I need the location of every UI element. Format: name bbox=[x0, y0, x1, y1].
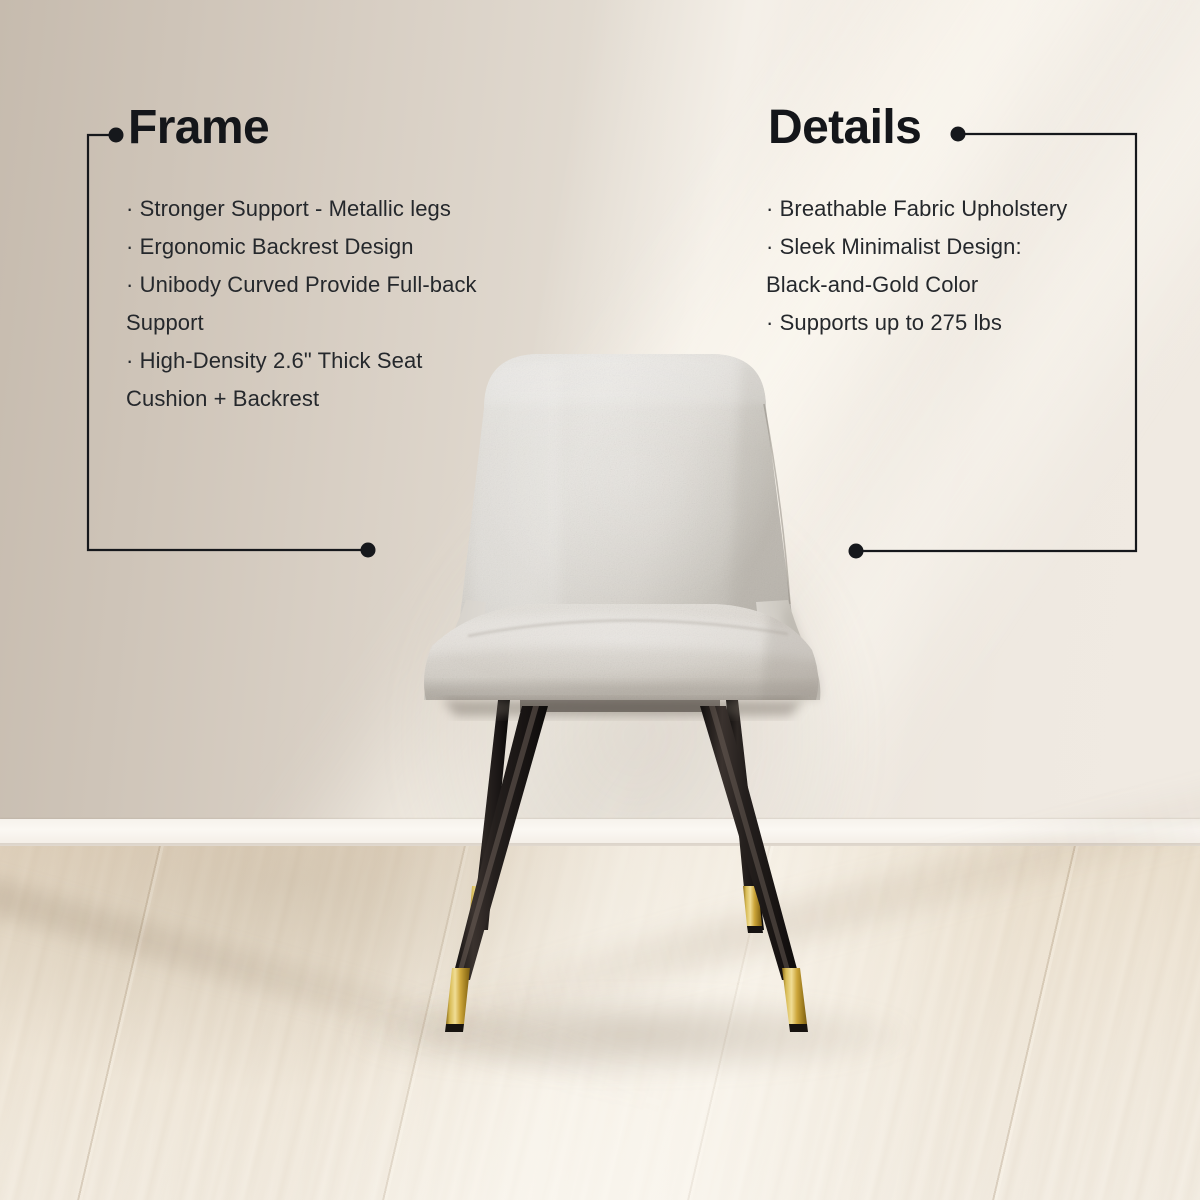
frame-bullet-list: · Stronger Support - Metallic legs · Erg… bbox=[126, 190, 516, 418]
details-bullet-2: Black-and-Gold Color bbox=[766, 266, 1146, 304]
details-bullet-3: · Supports up to 275 lbs bbox=[766, 304, 1146, 342]
frame-bullet-4: · High-Density 2.6" Thick Seat bbox=[126, 342, 516, 380]
frame-bullet-1: · Ergonomic Backrest Design bbox=[126, 228, 516, 266]
frame-bullet-2: · Unibody Curved Provide Full-back bbox=[126, 266, 516, 304]
product-feature-image: Frame · Stronger Support - Metallic legs… bbox=[0, 0, 1200, 1200]
details-bullet-list: · Breathable Fabric Upholstery · Sleek M… bbox=[766, 190, 1146, 342]
frame-bullet-0: · Stronger Support - Metallic legs bbox=[126, 190, 516, 228]
frame-bullet-5: Cushion + Backrest bbox=[126, 380, 516, 418]
frame-heading: Frame bbox=[128, 104, 269, 152]
details-bullet-1: · Sleek Minimalist Design: bbox=[766, 228, 1146, 266]
details-bullet-0: · Breathable Fabric Upholstery bbox=[766, 190, 1146, 228]
frame-bullet-3: Support bbox=[126, 304, 516, 342]
callout-text-layer: Frame · Stronger Support - Metallic legs… bbox=[0, 0, 1200, 1200]
details-heading: Details bbox=[768, 104, 921, 152]
